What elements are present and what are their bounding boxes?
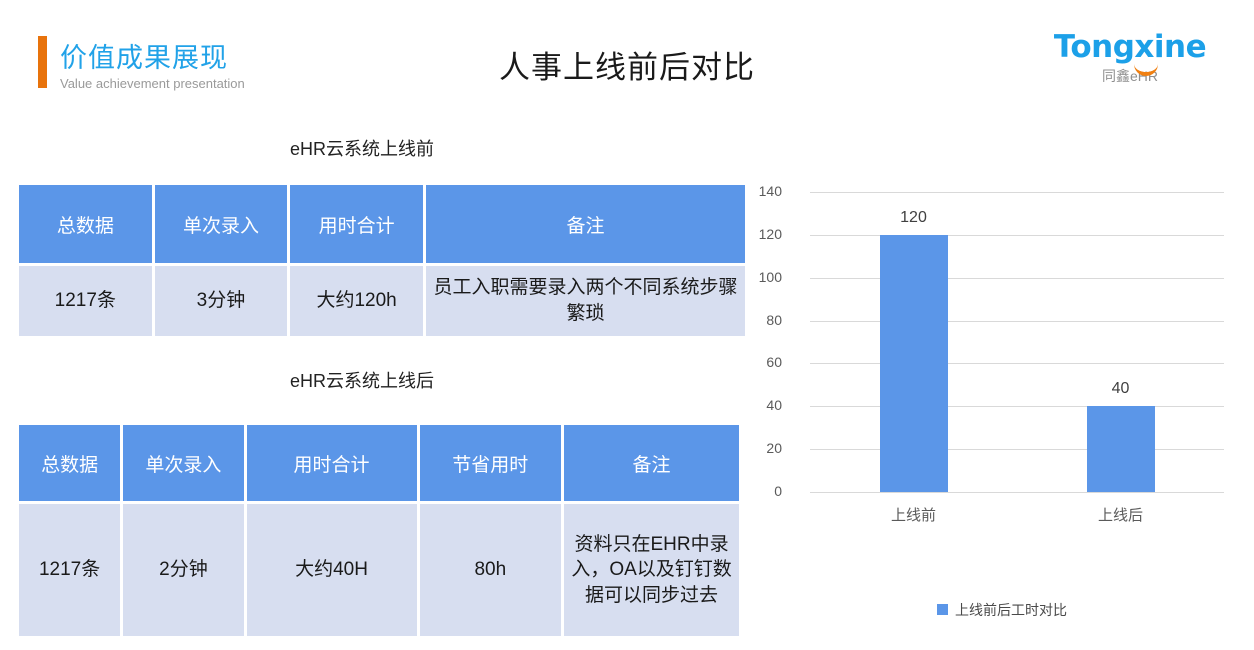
slide-canvas: 价值成果展现 Value achievement presentation 人事… bbox=[0, 0, 1254, 650]
y-axis-tick-label: 120 bbox=[742, 226, 782, 242]
logo: Tongxine 同鑫eHR bbox=[1030, 30, 1230, 92]
y-axis-tick-label: 140 bbox=[742, 183, 782, 199]
x-axis-tick-label: 上线后 bbox=[1061, 504, 1181, 525]
table-cell: 大约120h bbox=[290, 266, 423, 336]
chart-gridline bbox=[810, 363, 1224, 364]
x-axis-tick-label: 上线前 bbox=[854, 504, 974, 525]
chart-legend: 上线前后工时对比 bbox=[762, 600, 1242, 620]
table-header-row: 总数据 单次录入 用时合计 节省用时 备注 bbox=[19, 425, 739, 501]
y-axis-tick-label: 60 bbox=[742, 354, 782, 370]
chart-bar[interactable] bbox=[1087, 406, 1155, 492]
table-cell: 1217条 bbox=[19, 266, 152, 336]
table-before: 总数据 单次录入 用时合计 备注 1217条 3分钟 大约120h 员工入职需要… bbox=[16, 182, 748, 339]
legend-swatch bbox=[937, 604, 948, 615]
column-header: 备注 bbox=[564, 425, 739, 501]
table-cell: 1217条 bbox=[19, 504, 120, 636]
table-row: 1217条 3分钟 大约120h 员工入职需要录入两个不同系统步骤繁琐 bbox=[19, 266, 745, 336]
table-header-row: 总数据 单次录入 用时合计 备注 bbox=[19, 185, 745, 263]
y-axis-tick-label: 80 bbox=[742, 312, 782, 328]
chart-gridline bbox=[810, 492, 1224, 493]
column-header: 总数据 bbox=[19, 425, 120, 501]
table-cell: 2分钟 bbox=[123, 504, 243, 636]
column-header: 用时合计 bbox=[290, 185, 423, 263]
y-axis-tick-label: 0 bbox=[742, 483, 782, 499]
y-axis-tick-label: 20 bbox=[742, 440, 782, 456]
chart-gridline bbox=[810, 406, 1224, 407]
table-cell: 80h bbox=[420, 504, 562, 636]
table-after: 总数据 单次录入 用时合计 节省用时 备注 1217条 2分钟 大约40H 80… bbox=[16, 422, 742, 639]
table-cell: 3分钟 bbox=[155, 266, 288, 336]
logo-subtext: 同鑫eHR bbox=[1030, 66, 1230, 86]
bar-chart: 020406080100120140120上线前40上线后 上线前后工时对比 bbox=[762, 180, 1242, 630]
column-header: 总数据 bbox=[19, 185, 152, 263]
logo-wordmark: Tongxine bbox=[1030, 30, 1230, 64]
chart-gridline bbox=[810, 321, 1224, 322]
section-heading-after: eHR云系统上线后 bbox=[290, 367, 434, 393]
column-header: 备注 bbox=[426, 185, 745, 263]
column-header: 节省用时 bbox=[420, 425, 562, 501]
chart-bar-value-label: 120 bbox=[864, 209, 964, 227]
section-heading-before: eHR云系统上线前 bbox=[290, 135, 434, 161]
legend-label: 上线前后工时对比 bbox=[955, 602, 1067, 618]
chart-plot-area: 020406080100120140120上线前40上线后 bbox=[810, 192, 1224, 492]
column-header: 单次录入 bbox=[123, 425, 243, 501]
chart-gridline bbox=[810, 235, 1224, 236]
chart-gridline bbox=[810, 449, 1224, 450]
y-axis-tick-label: 100 bbox=[742, 269, 782, 285]
table-cell: 资料只在EHR中录入，OA以及钉钉数据可以同步过去 bbox=[564, 504, 739, 636]
y-axis-tick-label: 40 bbox=[742, 397, 782, 413]
column-header: 用时合计 bbox=[247, 425, 417, 501]
table-cell: 大约40H bbox=[247, 504, 417, 636]
chart-gridline bbox=[810, 278, 1224, 279]
table-row: 1217条 2分钟 大约40H 80h 资料只在EHR中录入，OA以及钉钉数据可… bbox=[19, 504, 739, 636]
chart-gridline bbox=[810, 192, 1224, 193]
chart-bar-value-label: 40 bbox=[1071, 380, 1171, 398]
table-cell: 员工入职需要录入两个不同系统步骤繁琐 bbox=[426, 266, 745, 336]
chart-bar[interactable] bbox=[880, 235, 948, 492]
column-header: 单次录入 bbox=[155, 185, 288, 263]
